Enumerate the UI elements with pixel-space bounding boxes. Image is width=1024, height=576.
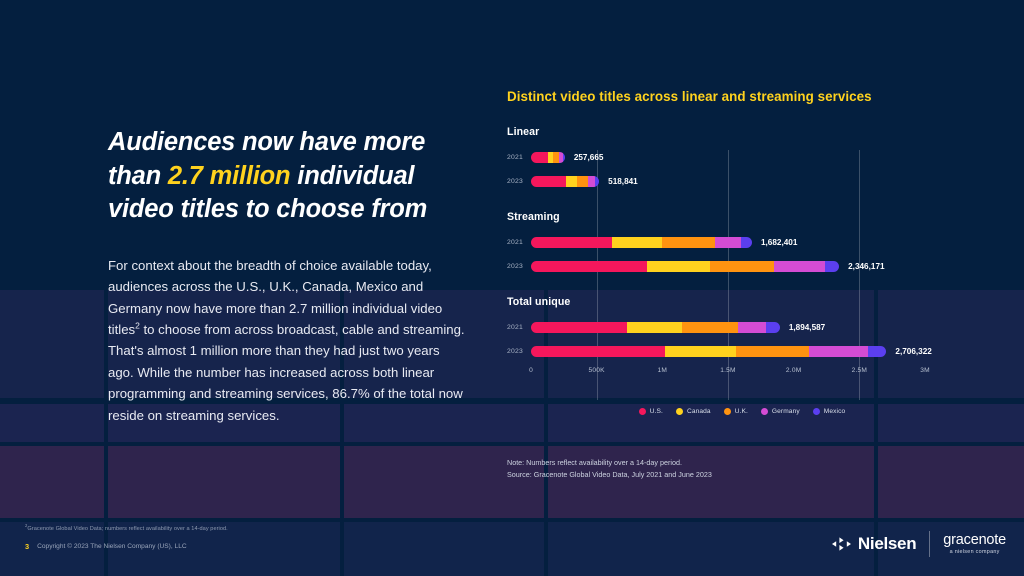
legend-swatch-icon	[761, 408, 768, 415]
axis-tick-label: 1M	[658, 367, 668, 374]
bar-value-label: 1,894,587	[789, 323, 825, 332]
note-line-1: Note: Numbers reflect availability over …	[507, 457, 712, 469]
bar-segment-germany	[588, 176, 595, 187]
chart-note: Note: Numbers reflect availability over …	[507, 457, 712, 480]
stacked-bar[interactable]	[531, 237, 752, 248]
bar-track: 2,346,171	[531, 261, 925, 272]
bar-year-label: 2021	[507, 239, 529, 246]
bar-value-label: 2,346,171	[848, 262, 884, 271]
bar-year-label: 2021	[507, 154, 529, 161]
legend-item-mexico[interactable]: Mexico	[813, 408, 846, 415]
chart-group: Linear2021257,6652023518,841	[507, 126, 977, 189]
note-line-2: Source: Gracenote Global Video Data, Jul…	[507, 469, 712, 481]
left-column: Audiences now have more than 2.7 million…	[108, 126, 478, 426]
copyright-text: Copyright © 2023 The Nielsen Company (US…	[37, 543, 187, 550]
bar-segment-us	[531, 322, 627, 333]
axis-tick-label: 3M	[920, 367, 930, 374]
nielsen-logo: Nielsen	[832, 534, 916, 554]
bar-segment-mexico	[741, 237, 752, 248]
stacked-bar[interactable]	[531, 152, 565, 163]
group-label: Linear	[507, 126, 977, 138]
bar-year-label: 2021	[507, 324, 529, 331]
bar-segment-mexico	[563, 152, 565, 163]
bar-track: 1,682,401	[531, 237, 925, 248]
bar-track: 1,894,587	[531, 322, 925, 333]
legend-swatch-icon	[676, 408, 683, 415]
axis-tick-label: 2.5M	[852, 367, 867, 374]
body-paragraph: For context about the breadth of choice …	[108, 255, 466, 426]
bar-segment-canada	[612, 237, 662, 248]
bar-year-label: 2023	[507, 263, 529, 270]
stacked-bar[interactable]	[531, 322, 780, 333]
bar-segment-germany	[715, 237, 741, 248]
gracenote-tagline: a nielsen company	[943, 549, 1006, 555]
gracenote-wordmark: gracenote	[943, 533, 1006, 548]
chart-title: Distinct video titles across linear and …	[507, 89, 872, 104]
bar-value-label: 2,706,322	[895, 347, 931, 356]
bar-segment-mexico	[825, 261, 839, 272]
bar-value-label: 518,841	[608, 177, 638, 186]
bar-segment-canada	[647, 261, 710, 272]
bar-year-label: 2023	[507, 348, 529, 355]
bar-row[interactable]: 20211,894,587	[507, 319, 977, 335]
bar-segment-us	[531, 176, 566, 187]
bar-segment-us	[531, 152, 548, 163]
page-title: Audiences now have more than 2.7 million…	[108, 126, 478, 227]
headline-highlight: 2.7 million	[168, 162, 291, 190]
brand-divider	[929, 531, 930, 557]
legend-item-uk[interactable]: U.K.	[724, 408, 748, 415]
bar-track: 518,841	[531, 176, 925, 187]
bar-row[interactable]: 20232,346,171	[507, 258, 977, 274]
legend-label: U.S.	[650, 408, 663, 415]
footnote-text: Gracenote Global Video Data; numbers ref…	[27, 526, 227, 532]
legend-item-canada[interactable]: Canada	[676, 408, 711, 415]
bar-row[interactable]: 2021257,665	[507, 149, 977, 165]
legend-swatch-icon	[724, 408, 731, 415]
chart-groups: Linear2021257,6652023518,841Streaming202…	[507, 126, 977, 359]
bar-segment-canada	[566, 176, 577, 187]
bar-segment-us	[531, 237, 612, 248]
axis-tick-label: 500K	[589, 367, 605, 374]
bar-segment-mexico	[595, 176, 599, 187]
bar-segment-uk	[577, 176, 588, 187]
stacked-bar[interactable]	[531, 261, 839, 272]
legend-label: Germany	[772, 408, 800, 415]
bar-row[interactable]: 20211,682,401	[507, 234, 977, 250]
bar-segment-germany	[738, 322, 766, 333]
bar-segment-germany	[774, 261, 825, 272]
bar-row[interactable]: 2023518,841	[507, 173, 977, 189]
chart-legend: U.S.CanadaU.K.GermanyMexico	[507, 408, 977, 415]
bar-row[interactable]: 20232,706,322	[507, 343, 977, 359]
stacked-bar-chart: Linear2021257,6652023518,841Streaming202…	[507, 126, 977, 381]
legend-item-germany[interactable]: Germany	[761, 408, 800, 415]
legend-label: U.K.	[735, 408, 748, 415]
slide-stage: Audiences now have more than 2.7 million…	[0, 0, 1024, 576]
gracenote-logo: gracenote a nielsen company	[943, 533, 1006, 556]
chart-x-axis: 0500K1M1.5M2.0M2.5M3M	[531, 367, 925, 381]
legend-swatch-icon	[639, 408, 646, 415]
axis-tick-label: 2.0M	[786, 367, 801, 374]
bar-track: 2,706,322	[531, 346, 925, 357]
bar-year-label: 2023	[507, 178, 529, 185]
nielsen-mark-icon	[832, 537, 852, 551]
axis-tick-label: 0	[529, 367, 533, 374]
bar-segment-uk	[662, 237, 715, 248]
bar-segment-us	[531, 346, 665, 357]
bar-segment-uk	[710, 261, 774, 272]
stacked-bar[interactable]	[531, 346, 886, 357]
legend-item-us[interactable]: U.S.	[639, 408, 663, 415]
bar-value-label: 257,665	[574, 153, 604, 162]
body-text-b: to choose from across broadcast, cable a…	[108, 322, 465, 423]
bar-segment-us	[531, 261, 647, 272]
page-number: 3	[25, 542, 29, 551]
bar-segment-uk	[736, 346, 810, 357]
legend-label: Canada	[687, 408, 711, 415]
bar-segment-mexico	[868, 346, 886, 357]
legend-label: Mexico	[824, 408, 846, 415]
bar-segment-uk	[682, 322, 738, 333]
bar-segment-canada	[627, 322, 682, 333]
bar-segment-germany	[809, 346, 868, 357]
bar-segment-mexico	[766, 322, 780, 333]
bar-track: 257,665	[531, 152, 925, 163]
nielsen-wordmark: Nielsen	[858, 534, 916, 554]
brand-lockup: Nielsen gracenote a nielsen company	[832, 531, 1006, 557]
bar-segment-canada	[665, 346, 736, 357]
copyright-line: 3 Copyright © 2023 The Nielsen Company (…	[25, 542, 187, 551]
legend-swatch-icon	[813, 408, 820, 415]
stacked-bar[interactable]	[531, 176, 599, 187]
bar-value-label: 1,682,401	[761, 238, 797, 247]
footnote: 2Gracenote Global Video Data; numbers re…	[25, 523, 228, 532]
axis-tick-label: 1.5M	[720, 367, 735, 374]
